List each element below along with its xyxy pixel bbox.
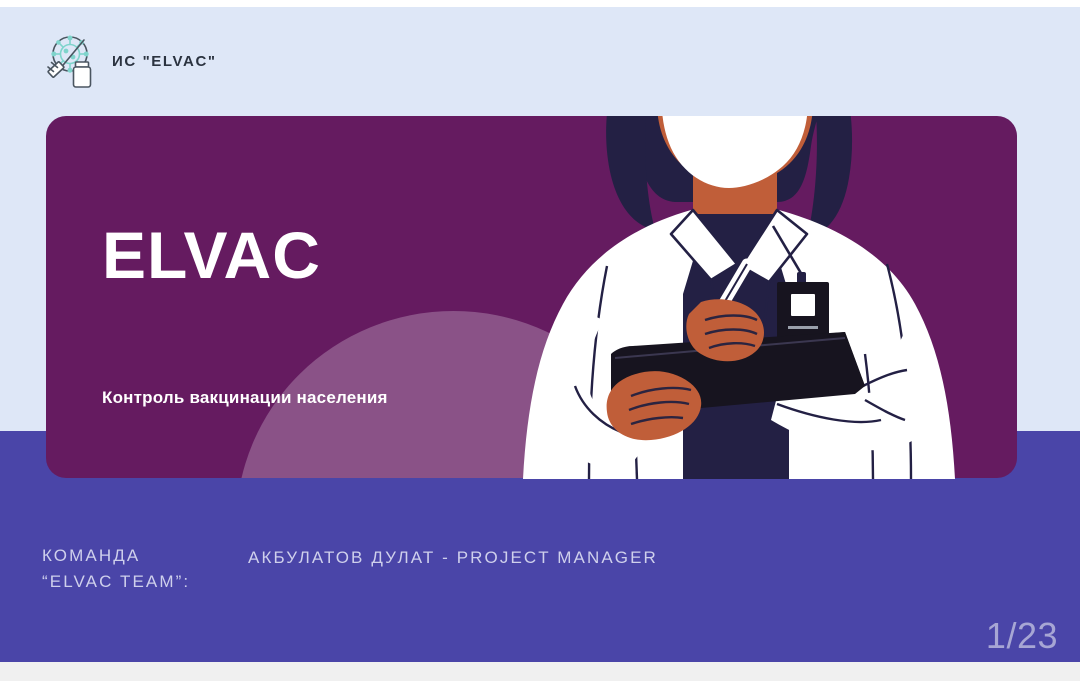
top-white-strip (0, 0, 1080, 7)
brand-label: ИС "ELVAC" (112, 53, 217, 70)
brand-bar: ИС "ELVAC" (40, 32, 217, 90)
team-member-list: АКБУЛАТОВ ДУЛАТ - PROJECT MANAGER (248, 543, 658, 571)
bottom-grey-strip (0, 662, 1080, 681)
page-title: ELVAC (102, 222, 388, 288)
hero-text-block: ELVAC Контроль вакцинации населения (102, 222, 388, 408)
team-credits: КОМАНДА “ELVAC TEAM”: АКБУЛАТОВ ДУЛАТ - … (42, 543, 658, 596)
list-item: АКБУЛАТОВ ДУЛАТ - PROJECT MANAGER (248, 545, 658, 571)
presentation-slide: ИС "ELVAC" ELVAC Контроль вакцинации нас… (0, 0, 1080, 681)
hero-card: ELVAC Контроль вакцинации населения (46, 116, 1017, 478)
vaccine-virus-icon (40, 32, 98, 90)
page-counter: 1/23 (986, 615, 1058, 657)
team-label: КОМАНДА “ELVAC TEAM”: (42, 543, 248, 596)
page-subtitle: Контроль вакцинации населения (102, 288, 388, 408)
